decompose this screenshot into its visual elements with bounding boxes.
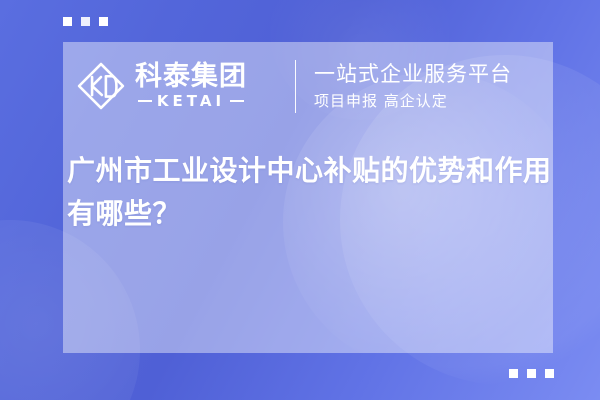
wordmark-rule-right-icon	[230, 100, 244, 102]
kd-monogram-diamond-icon	[75, 60, 127, 112]
square-dot-icon	[99, 17, 108, 26]
promo-banner: 科泰集团 KETAI 一站式企业服务平台 项目申报 高企认定 广州市工业设计中心…	[0, 0, 600, 400]
square-dot-icon	[63, 17, 72, 26]
square-dot-icon	[81, 17, 90, 26]
tagline-primary: 一站式企业服务平台	[314, 61, 512, 87]
square-dot-icon	[545, 369, 554, 378]
brand-wordmark: 科泰集团 KETAI	[135, 63, 247, 108]
brand-logo: 科泰集团 KETAI	[75, 60, 293, 112]
page-title: 广州市工业设计中心补贴的优势和作用有哪些？	[67, 150, 552, 235]
brand-name-cn: 科泰集团	[135, 63, 247, 91]
brand-name-en: KETAI	[157, 94, 225, 109]
brand-name-en-row: KETAI	[138, 94, 244, 109]
tagline-secondary: 项目申报 高企认定	[314, 90, 512, 113]
square-dot-icon	[509, 369, 518, 378]
header-divider	[295, 60, 296, 113]
tagline-block: 一站式企业服务平台 项目申报 高企认定	[314, 59, 512, 113]
square-dot-icon	[527, 369, 536, 378]
decorative-dots-top-left	[63, 17, 108, 26]
wordmark-rule-left-icon	[138, 100, 152, 102]
decorative-dots-bottom-right	[509, 369, 554, 378]
banner-header: 科泰集团 KETAI 一站式企业服务平台 项目申报 高企认定	[63, 42, 553, 130]
